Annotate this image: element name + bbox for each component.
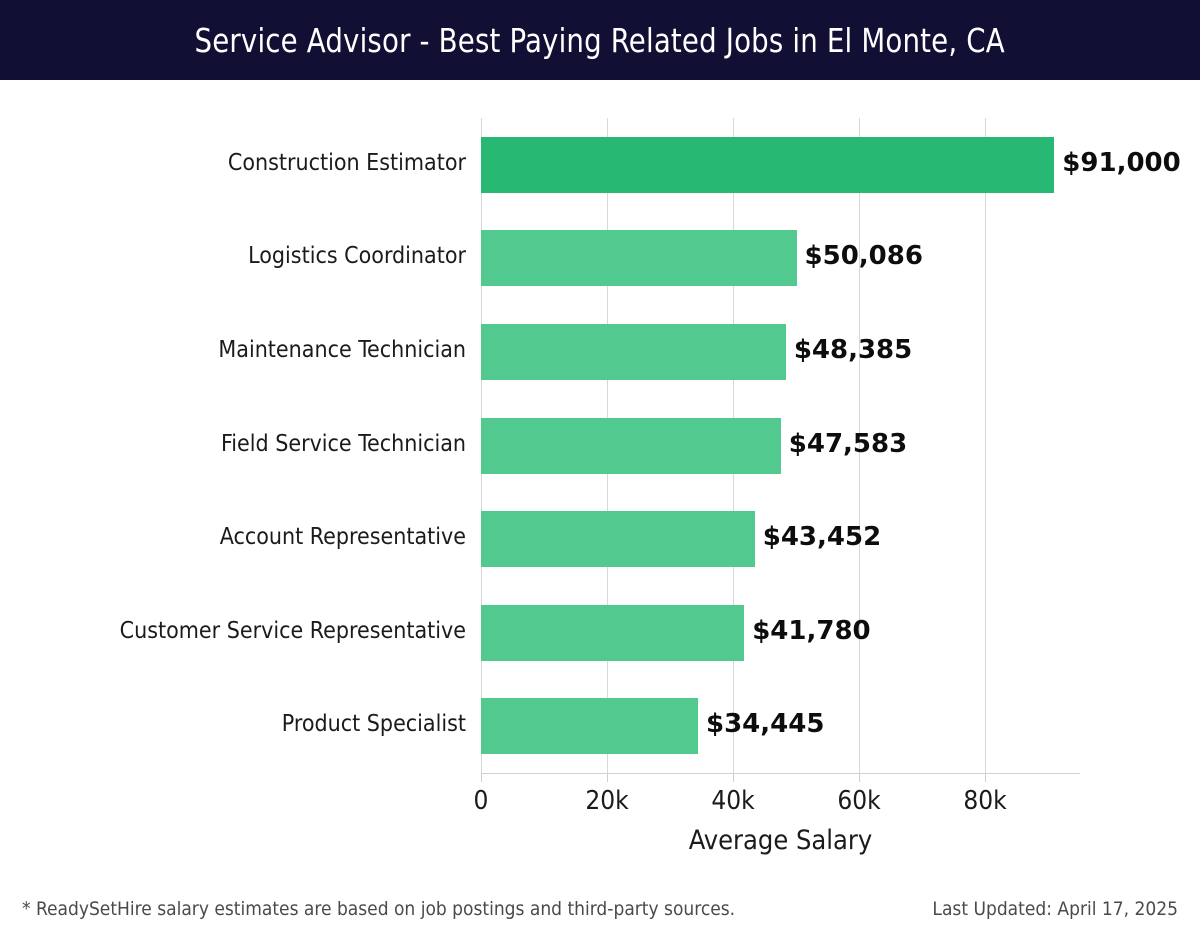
x-axis-title: Average Salary — [481, 825, 1080, 856]
bar-value-label: $41,780 — [752, 616, 870, 646]
x-tick-mark — [733, 773, 734, 782]
x-tick-mark — [859, 773, 860, 782]
x-tick-label: 80k — [963, 786, 1006, 816]
bar[interactable] — [481, 418, 781, 474]
bar-value-label: $91,000 — [1062, 148, 1180, 178]
x-tick-mark — [607, 773, 608, 782]
chart-area: 020k40k60k80k Construction EstimatorLogi… — [0, 80, 1200, 880]
bar-value-label: $47,583 — [789, 429, 907, 459]
bar-value-label: $43,452 — [763, 522, 881, 552]
x-tick-mark — [985, 773, 986, 782]
bar-value-label: $48,385 — [794, 335, 912, 365]
page-title: Service Advisor - Best Paying Related Jo… — [195, 21, 1005, 60]
bar[interactable] — [481, 511, 755, 567]
bar[interactable] — [481, 324, 786, 380]
category-label: Construction Estimator — [228, 150, 466, 176]
x-tick-mark — [481, 773, 482, 782]
category-label: Field Service Technician — [221, 431, 466, 457]
chart-page: Service Advisor - Best Paying Related Jo… — [0, 0, 1200, 940]
category-label: Maintenance Technician — [218, 337, 466, 363]
x-tick-label: 60k — [837, 786, 880, 816]
footer-last-updated: Last Updated: April 17, 2025 — [932, 898, 1178, 920]
category-label: Logistics Coordinator — [248, 243, 466, 269]
bar[interactable] — [481, 230, 797, 286]
plot-region: 020k40k60k80k — [481, 118, 1080, 773]
x-tick-label: 20k — [585, 786, 628, 816]
gridline — [985, 118, 986, 773]
footer-disclaimer: * ReadySetHire salary estimates are base… — [22, 898, 735, 920]
header-bar: Service Advisor - Best Paying Related Jo… — [0, 0, 1200, 80]
category-label: Product Specialist — [282, 711, 466, 737]
x-tick-label: 40k — [711, 786, 754, 816]
bar[interactable] — [481, 137, 1054, 193]
x-tick-label: 0 — [474, 786, 489, 816]
bar-value-label: $34,445 — [706, 709, 824, 739]
bar[interactable] — [481, 698, 698, 754]
category-label: Account Representative — [220, 524, 466, 550]
category-label: Customer Service Representative — [120, 618, 466, 644]
bar[interactable] — [481, 605, 744, 661]
x-axis-line — [481, 773, 1080, 774]
bar-value-label: $50,086 — [805, 241, 923, 271]
